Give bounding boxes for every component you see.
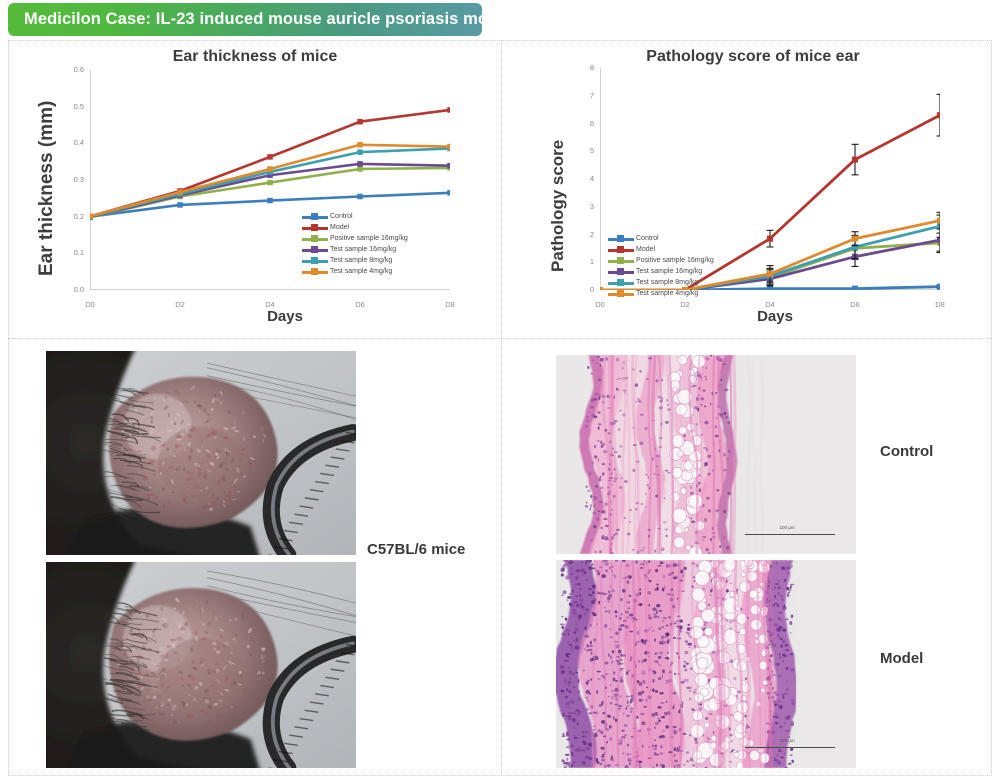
legend-swatch-icon	[302, 216, 328, 219]
chart1-y-tick: 0.4	[56, 138, 84, 147]
histology-scale-bar	[745, 747, 835, 748]
pathology-score-chart-panel: Pathology score of mice ear Pathology sc…	[512, 44, 994, 334]
legend-label: Test sample 8mg/kg	[636, 279, 698, 287]
legend-item: Test sample 8mg/kg	[608, 278, 714, 288]
histology-label-control: Control	[880, 443, 933, 460]
legend-item: Test sample 8mg/kg	[302, 256, 408, 266]
chart2-y-tick: 7	[566, 91, 594, 100]
chart2-x-tick: D0	[583, 300, 617, 309]
legend-swatch-icon	[302, 260, 328, 263]
chart1-y-tick: 0.6	[56, 65, 84, 74]
chart1-y-tick: 0.3	[56, 175, 84, 184]
chart2-y-tick: 5	[566, 146, 594, 155]
legend-swatch-icon	[608, 293, 634, 296]
chart1-y-tick: 0.2	[56, 212, 84, 221]
legend-swatch-icon	[302, 249, 328, 252]
chart2-x-tick: D2	[668, 300, 702, 309]
chart1-y-tick: 0.5	[56, 102, 84, 111]
legend-swatch-icon	[608, 238, 634, 241]
legend-label: Test sample 8mg/kg	[330, 257, 392, 265]
page-title-banner: Medicilon Case: IL-23 induced mouse auri…	[8, 3, 482, 36]
chart2-x-tick: D6	[838, 300, 872, 309]
chart2-y-tick: 4	[566, 174, 594, 183]
chart1-x-axis-label: Days	[44, 308, 526, 325]
legend-swatch-icon	[302, 238, 328, 241]
legend-swatch-icon	[302, 227, 328, 230]
chart1-title: Ear thickness of mice	[14, 48, 496, 66]
mouse-strain-caption: C57BL/6 mice	[367, 541, 465, 558]
legend-item: Control	[302, 212, 408, 222]
legend-label: Test sample 4mg/kg	[330, 268, 392, 276]
legend-label: Model	[330, 224, 349, 232]
legend-swatch-icon	[608, 260, 634, 263]
chart2-x-tick: D4	[753, 300, 787, 309]
page-title: Medicilon Case: IL-23 induced mouse auri…	[24, 10, 512, 29]
ear-thickness-chart-panel: Ear thickness of mice Ear thickness (mm)…	[14, 44, 496, 334]
chart1-y-tick: 0.0	[56, 285, 84, 294]
chart2-y-tick: 2	[566, 230, 594, 239]
chart1-y-tick: 0.1	[56, 248, 84, 257]
chart2-y-axis-label: Pathology score	[548, 140, 568, 272]
histology-scale-bar	[745, 534, 835, 535]
chart2-legend: ControlModelPositive sample 16mg/kgTest …	[608, 234, 714, 300]
legend-item: Positive sample 16mg/kg	[302, 234, 408, 244]
chart2-y-tick: 8	[566, 63, 594, 72]
chart2-y-tick: 0	[566, 285, 594, 294]
chart1-x-tick: D8	[433, 300, 467, 309]
legend-label: Positive sample 16mg/kg	[636, 257, 714, 265]
legend-swatch-icon	[608, 249, 634, 252]
legend-label: Model	[636, 246, 655, 254]
legend-item: Test sample 16mg/kg	[608, 267, 714, 277]
chart2-y-tick: 1	[566, 257, 594, 266]
legend-item: Test sample 4mg/kg	[302, 267, 408, 277]
chart1-legend: ControlModelPositive sample 16mg/kgTest …	[302, 212, 408, 278]
chart1-x-tick: D2	[163, 300, 197, 309]
chart2-x-tick: D8	[923, 300, 957, 309]
chart2-y-tick: 3	[566, 202, 594, 211]
legend-item: Test sample 16mg/kg	[302, 245, 408, 255]
legend-swatch-icon	[302, 271, 328, 274]
legend-item: Control	[608, 234, 714, 244]
legend-label: Test sample 4mg/kg	[636, 290, 698, 298]
mouse-ear-photo-top	[46, 351, 356, 555]
legend-swatch-icon	[608, 271, 634, 274]
histology-image-control: 100 µm	[556, 355, 856, 554]
histology-label-model: Model	[880, 650, 923, 667]
histology-scale-bar-label: 100 µm	[780, 525, 795, 530]
legend-swatch-icon	[608, 282, 634, 285]
legend-item: Model	[608, 245, 714, 255]
chart1-x-tick: D4	[253, 300, 287, 309]
chart1-x-tick: D0	[73, 300, 107, 309]
chart1-x-tick: D6	[343, 300, 377, 309]
legend-item: Test sample 4mg/kg	[608, 289, 714, 299]
chart2-x-axis-label: Days	[534, 308, 1000, 325]
mouse-ear-photo-bottom	[46, 562, 356, 768]
chart2-y-tick: 6	[566, 119, 594, 128]
horizontal-divider	[8, 338, 992, 339]
histology-scale-bar-label: 100 µm	[780, 738, 795, 743]
legend-item: Positive sample 16mg/kg	[608, 256, 714, 266]
legend-item: Model	[302, 223, 408, 233]
legend-label: Positive sample 16mg/kg	[330, 235, 408, 243]
vertical-divider	[501, 40, 502, 776]
legend-label: Test sample 16mg/kg	[636, 268, 702, 276]
legend-label: Control	[330, 213, 353, 221]
legend-label: Test sample 16mg/kg	[330, 246, 396, 254]
histology-image-model: 100 µm	[556, 560, 856, 768]
legend-label: Control	[636, 235, 659, 243]
chart1-y-axis-label: Ear thickness (mm)	[36, 101, 58, 276]
